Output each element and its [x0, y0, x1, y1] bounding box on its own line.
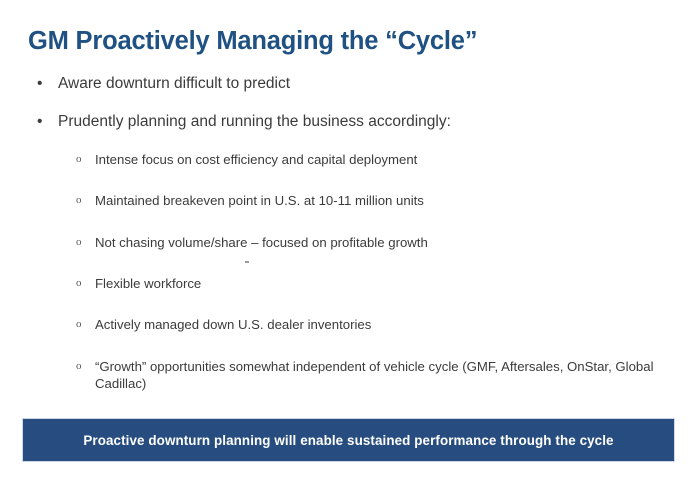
list-item: • Prudently planning and running the bus… [0, 112, 695, 131]
slide-canvas: GM Proactively Managing the “Cycle” • Aw… [0, 0, 695, 479]
sub-list-item-label: Actively managed down U.S. dealer invent… [95, 317, 371, 332]
sub-list-item-label: Maintained breakeven point in U.S. at 10… [95, 193, 424, 208]
list-item-label: Aware downturn difficult to predict [58, 75, 290, 92]
sub-bullet-list: o Intense focus on cost efficiency and c… [0, 151, 695, 393]
bullet-circle-icon: o [76, 151, 82, 168]
bullet-dot-icon: • [37, 112, 42, 131]
list-item: • Aware downturn difficult to predict [0, 74, 695, 93]
bullet-circle-icon: o [76, 316, 82, 333]
page-title: GM Proactively Managing the “Cycle” [28, 27, 477, 56]
summary-banner: Proactive downturn planning will enable … [22, 418, 675, 462]
bullet-dot-icon: • [37, 74, 42, 93]
bullet-circle-icon: o [76, 192, 82, 209]
bullet-circle-icon: o [76, 275, 82, 292]
scan-artifact-speck [245, 261, 249, 263]
sub-list-item: o Not chasing volume/share – focused on … [0, 234, 695, 251]
sub-list-item: o “Growth” opportunities somewhat indepe… [0, 358, 695, 393]
sub-list-item: o Intense focus on cost efficiency and c… [0, 151, 695, 168]
bullet-circle-icon: o [76, 358, 82, 375]
sub-list-item-label: Flexible workforce [95, 276, 201, 291]
sub-list-item: o Maintained breakeven point in U.S. at … [0, 192, 695, 209]
sub-list-item-label: Intense focus on cost efficiency and cap… [95, 152, 417, 167]
list-item-label: Prudently planning and running the busin… [58, 113, 451, 130]
sub-list-item-label: “Growth” opportunities somewhat independ… [95, 359, 654, 391]
sub-list-item-label: Not chasing volume/share – focused on pr… [95, 235, 428, 250]
summary-banner-label: Proactive downturn planning will enable … [83, 433, 613, 448]
sub-list-item: o Actively managed down U.S. dealer inve… [0, 316, 695, 333]
bullet-list: • Aware downturn difficult to predict • … [0, 74, 695, 393]
sub-list-item: o Flexible workforce [0, 275, 695, 292]
bullet-circle-icon: o [76, 234, 82, 251]
